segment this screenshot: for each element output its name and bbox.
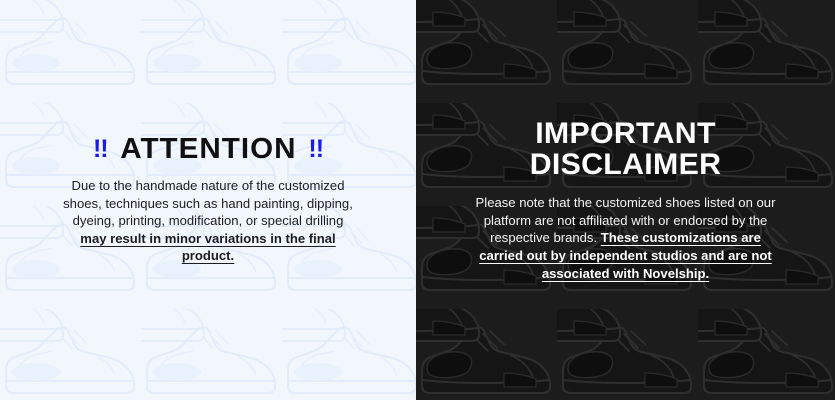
double-exclamation-right-icon: !! xyxy=(308,137,323,162)
attention-content: !! ATTENTION !! Due to the handmade natu… xyxy=(0,135,416,265)
disclaimer-title: IMPORTANTDISCLAIMER xyxy=(442,118,809,180)
disclaimer-content: IMPORTANTDISCLAIMER Please note that the… xyxy=(416,118,835,282)
disclaimer-banner: !! ATTENTION !! Due to the handmade natu… xyxy=(0,0,835,400)
disclaimer-panel: IMPORTANTDISCLAIMER Please note that the… xyxy=(416,0,835,400)
attention-panel: !! ATTENTION !! Due to the handmade natu… xyxy=(0,0,416,400)
attention-heading: !! ATTENTION !! xyxy=(28,135,388,164)
double-exclamation-left-icon: !! xyxy=(93,137,108,162)
attention-body-normal: Due to the handmade nature of the custom… xyxy=(63,178,353,228)
attention-body-emphasis: may result in minor variations in the fi… xyxy=(80,231,335,264)
attention-body-text: Due to the handmade nature of the custom… xyxy=(58,177,358,265)
disclaimer-title-line2: DISCLAIMER xyxy=(442,149,809,180)
disclaimer-body-text: Please note that the customized shoes li… xyxy=(467,194,785,282)
disclaimer-title-line1: IMPORTANT xyxy=(535,117,716,150)
attention-title: ATTENTION xyxy=(120,135,296,164)
